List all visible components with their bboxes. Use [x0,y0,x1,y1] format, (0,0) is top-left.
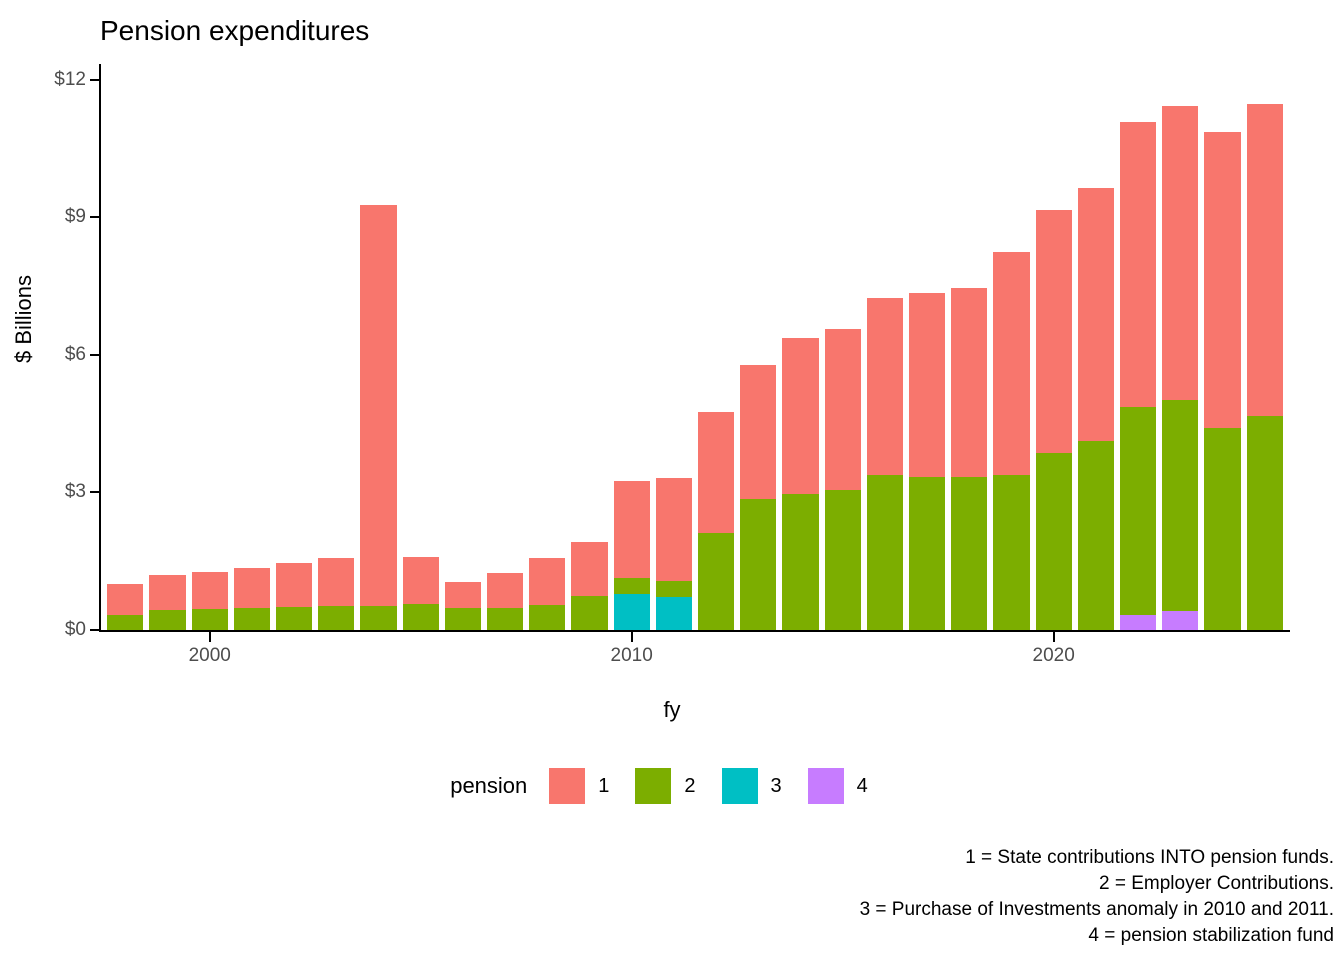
legend-label: 1 [598,775,609,798]
bar-group[interactable] [1204,66,1240,630]
y-tick-label: $0 [65,619,86,641]
bar-group[interactable] [993,66,1029,630]
bar-segment-series-1[interactable] [1036,210,1072,453]
bar-segment-series-1[interactable] [1162,106,1198,399]
bar-group[interactable] [1078,66,1114,630]
legend-items: 1234 [549,768,894,804]
y-tick-label: $3 [65,481,86,503]
bar-segment-series-1[interactable] [782,338,818,494]
x-tick-label: 2010 [611,645,653,667]
y-axis-title: $ Billions [11,239,37,399]
plot-panel [100,66,1290,630]
bar-segment-series-4[interactable] [1162,611,1198,630]
bar-segment-series-2[interactable] [1078,441,1114,630]
bar-segment-series-1[interactable] [656,478,692,581]
bar-group[interactable] [1247,66,1283,630]
y-tick-label: $12 [54,69,86,91]
legend-label: 4 [857,775,868,798]
bar-group[interactable] [951,66,987,630]
bar-segment-series-2[interactable] [571,596,607,630]
bar-segment-series-2[interactable] [1036,453,1072,630]
bar-segment-series-2[interactable] [698,533,734,630]
bar-segment-series-2[interactable] [782,494,818,630]
legend-item-1[interactable]: 1 [549,768,617,804]
bar-group[interactable] [276,66,312,630]
bar-segment-series-2[interactable] [234,608,270,630]
legend-swatch-icon [635,768,671,804]
bar-group[interactable] [656,66,692,630]
x-axis-title: fy [0,697,1344,723]
legend-label: 3 [771,775,782,798]
legend-label: 2 [684,775,695,798]
page-title: Pension expenditures [100,14,369,48]
bar-segment-series-2[interactable] [867,475,903,630]
bar-segment-series-1[interactable] [529,558,565,604]
bar-segment-series-2[interactable] [192,609,228,630]
bar-segment-series-1[interactable] [825,329,861,490]
bar-group[interactable] [403,66,439,630]
bar-group[interactable] [740,66,776,630]
bar-group[interactable] [1036,66,1072,630]
bar-group[interactable] [149,66,185,630]
bar-segment-series-2[interactable] [993,475,1029,630]
y-tick-mark [90,491,100,493]
legend-swatch-icon [808,768,844,804]
bar-segment-series-2[interactable] [360,606,396,630]
y-tick-mark [90,79,100,81]
bar-segment-series-2[interactable] [825,490,861,630]
bar-segment-series-2[interactable] [107,615,143,630]
bar-group[interactable] [1120,66,1156,630]
x-axis-line [99,630,1290,632]
y-tick-mark [90,216,100,218]
bar-group[interactable] [487,66,523,630]
bar-segment-series-2[interactable] [951,477,987,630]
caption-line: 3 = Purchase of Investments anomaly in 2… [434,897,1334,923]
bar-segment-series-1[interactable] [571,542,607,596]
bar-segment-series-2[interactable] [1120,407,1156,616]
bar-group[interactable] [318,66,354,630]
x-tick-mark [209,632,211,642]
bar-segment-series-2[interactable] [656,581,692,597]
caption-line: 2 = Employer Contributions. [434,871,1334,897]
bar-group[interactable] [529,66,565,630]
bar-segment-series-2[interactable] [403,604,439,630]
bar-segment-series-1[interactable] [1247,104,1283,417]
bar-segment-series-1[interactable] [360,205,396,605]
bar-group[interactable] [614,66,650,630]
x-tick-mark [631,632,633,642]
bar-group[interactable] [1162,66,1198,630]
bar-segment-series-2[interactable] [529,605,565,630]
caption-line: 4 = pension stabilization fund [434,923,1334,949]
bar-segment-series-1[interactable] [951,288,987,477]
bar-segment-series-2[interactable] [276,607,312,630]
bar-segment-series-2[interactable] [614,578,650,594]
bar-group[interactable] [867,66,903,630]
bar-segment-series-3[interactable] [656,597,692,630]
bar-group[interactable] [107,66,143,630]
bar-segment-series-1[interactable] [487,573,523,608]
x-tick-mark [1053,632,1055,642]
bar-segment-series-2[interactable] [487,608,523,630]
bar-segment-series-1[interactable] [1120,122,1156,406]
legend-swatch-icon [549,768,585,804]
bar-group[interactable] [192,66,228,630]
bar-segment-series-1[interactable] [740,365,776,499]
bar-segment-series-2[interactable] [740,499,776,630]
legend-item-4[interactable]: 4 [808,768,876,804]
y-tick-mark [90,629,100,631]
bar-segment-series-1[interactable] [909,293,945,477]
bar-group[interactable] [825,66,861,630]
bar-segment-series-1[interactable] [318,558,354,606]
bar-segment-series-1[interactable] [234,568,270,609]
x-tick-label: 2020 [1033,645,1075,667]
legend-item-2[interactable]: 2 [635,768,703,804]
x-tick-label: 2000 [189,645,231,667]
bar-group[interactable] [698,66,734,630]
bar-group[interactable] [234,66,270,630]
legend-item-3[interactable]: 3 [722,768,790,804]
y-tick-label: $6 [65,344,86,366]
legend-title: pension [450,773,527,799]
bar-segment-series-2[interactable] [909,477,945,630]
bar-segment-series-1[interactable] [403,557,439,605]
bar-segment-series-2[interactable] [149,610,185,630]
bar-group[interactable] [571,66,607,630]
legend-swatch-icon [722,768,758,804]
bar-segment-series-2[interactable] [1247,416,1283,630]
bar-segment-series-1[interactable] [192,572,228,610]
bar-segment-series-1[interactable] [1204,132,1240,429]
bar-group[interactable] [360,66,396,630]
caption: 1 = State contributions INTO pension fun… [434,845,1334,949]
bar-segment-series-1[interactable] [614,481,650,578]
bar-segment-series-1[interactable] [276,563,312,607]
chart-canvas: Pension expenditures $ Billions fy $0$3$… [0,0,1344,960]
y-tick-mark [90,354,100,356]
bar-group[interactable] [445,66,481,630]
bar-segment-series-1[interactable] [698,412,734,534]
bar-segment-series-1[interactable] [867,298,903,475]
bar-segment-series-1[interactable] [107,584,143,615]
y-tick-label: $9 [65,206,86,228]
bar-segment-series-2[interactable] [1204,428,1240,630]
bar-segment-series-2[interactable] [318,606,354,630]
bar-segment-series-1[interactable] [1078,188,1114,441]
bar-segment-series-1[interactable] [993,252,1029,474]
bar-segment-series-3[interactable] [614,594,650,630]
bar-segment-series-1[interactable] [149,575,185,611]
bar-group[interactable] [782,66,818,630]
bar-group[interactable] [909,66,945,630]
legend: pension 1234 [0,768,1344,804]
caption-line: 1 = State contributions INTO pension fun… [434,845,1334,871]
bar-segment-series-2[interactable] [1162,400,1198,611]
bar-segment-series-4[interactable] [1120,615,1156,630]
bar-segment-series-2[interactable] [445,608,481,630]
bar-segment-series-1[interactable] [445,582,481,609]
